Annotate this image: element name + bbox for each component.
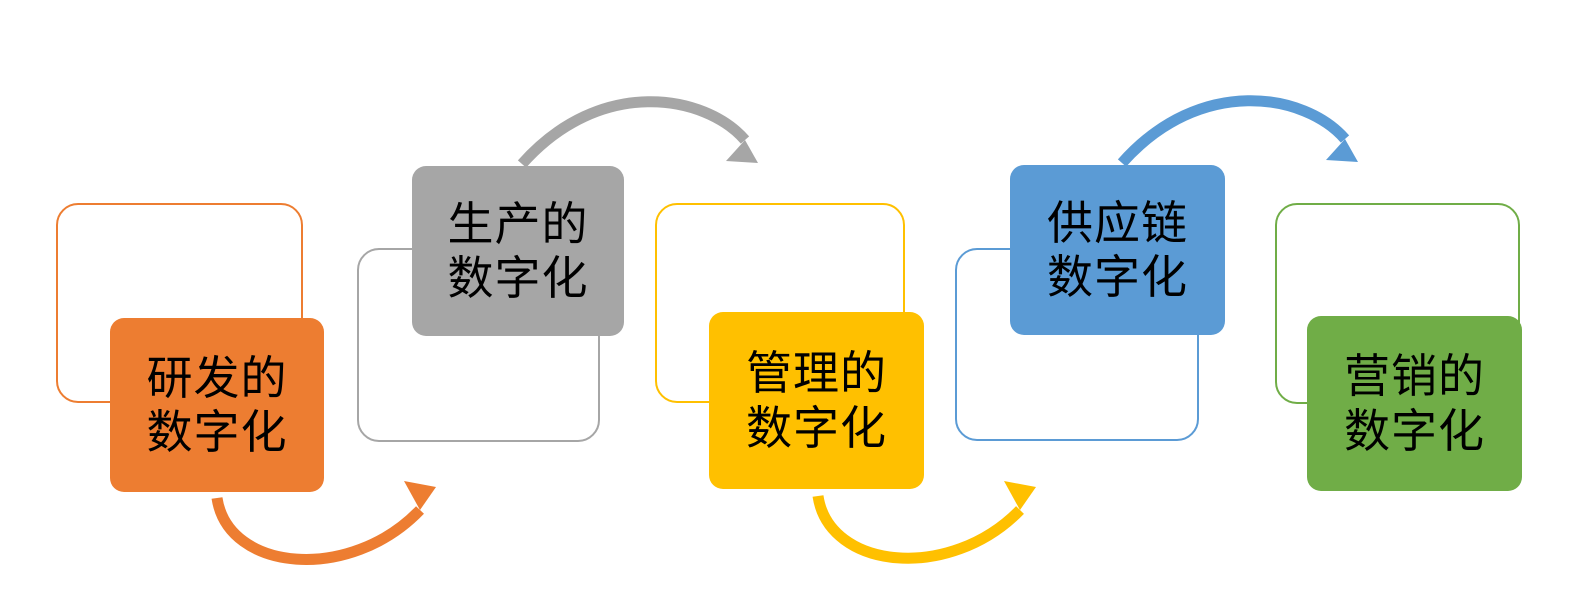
arrow-production-to-management (522, 102, 745, 164)
stage-label-supplychain-line2: 数字化 (1047, 250, 1188, 304)
arrow-rd-to-production-head-icon (404, 481, 436, 510)
stage-card-rd[interactable]: 研发的 数字化 (110, 318, 324, 492)
arrow-management-to-supplychain (818, 496, 1020, 558)
stage-card-supplychain[interactable]: 供应链 数字化 (1010, 165, 1225, 335)
stage-label-rd-line1: 研发的 (147, 351, 288, 405)
stage-card-management[interactable]: 管理的 数字化 (709, 312, 924, 489)
stage-label-management-line1: 管理的 (746, 346, 887, 400)
arrow-management-to-supplychain-head-icon (1004, 481, 1036, 510)
stage-label-marketing-line2: 数字化 (1344, 404, 1485, 458)
stage-card-marketing[interactable]: 营销的 数字化 (1307, 316, 1522, 491)
stage-label-supplychain-line1: 供应链 (1047, 196, 1188, 250)
arrow-production-to-management-head-icon (726, 140, 758, 163)
stage-label-production-line2: 数字化 (448, 251, 589, 305)
arrow-rd-to-production (217, 498, 420, 559)
stage-label-marketing-line1: 营销的 (1344, 349, 1485, 403)
stage-label-production-line1: 生产的 (448, 197, 589, 251)
arrow-supplychain-to-marketing (1122, 101, 1345, 163)
stage-label-management-line2: 数字化 (746, 401, 887, 455)
stage-label-rd-line2: 数字化 (147, 405, 288, 459)
arrow-supplychain-to-marketing-head-icon (1326, 139, 1358, 162)
digital-transformation-diagram: 研发的 数字化 生产的 数字化 管理的 数字化 供应链 数字化 营销的 数字化 (0, 0, 1591, 609)
stage-card-production[interactable]: 生产的 数字化 (412, 166, 624, 336)
